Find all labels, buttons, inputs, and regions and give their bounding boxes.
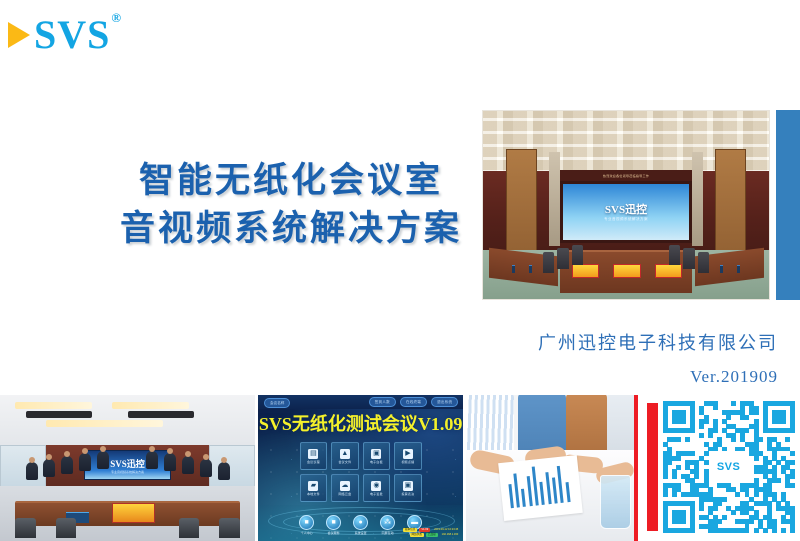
room-screen-title: SVS迅控	[110, 457, 145, 470]
hero-led-screen: SVS迅控 专业音视频系统解决方案	[560, 181, 692, 243]
share-icon: ⁂	[380, 515, 395, 530]
registered-trademark-icon: ®	[111, 10, 122, 25]
strip-panel-conference-room: SVS迅控 专业音视频系统解决方案	[0, 395, 255, 541]
photo-red-accent-edge	[634, 395, 638, 541]
room-window-left	[0, 445, 46, 492]
document-icon: ▲	[340, 449, 350, 459]
qr-red-bar	[647, 403, 658, 531]
software-tile-documents[interactable]: ▲ 会议文件	[331, 442, 359, 470]
room-attendee	[218, 462, 230, 480]
software-tile-label: 网络云盘	[338, 492, 351, 496]
software-tile-label: 会议议程	[307, 460, 320, 464]
video-icon: ▶	[403, 449, 413, 459]
room-attendee	[146, 451, 158, 469]
software-tile-local-files[interactable]: ▰ 本地文件	[300, 474, 328, 502]
dock-item-screenshare[interactable]: ⁂ 同屏互动	[380, 515, 395, 535]
dock-item-label: 会议服务	[328, 531, 340, 535]
status-row: 版本信息 V1.09 2019-09-12 10:23:45	[403, 528, 460, 532]
hero-screen-subtitle: 专业音视频系统解决方案	[604, 217, 648, 222]
strip-panel-qr-code: SVS	[641, 395, 800, 541]
strip-panel-software-ui: 签到人数 在线终端 退出系统 会议名称 SVS无纸化测试会议V1.09 ▤ 会议…	[258, 395, 463, 541]
status-chip-version-value: V1.09	[419, 528, 430, 532]
software-tile-agenda[interactable]: ▤ 会议议程	[300, 442, 328, 470]
room-chair	[219, 518, 239, 538]
room-attendee	[200, 459, 212, 477]
software-status-info: 版本信息 V1.09 2019-09-12 10:23:45 网络状态 已连接 …	[403, 528, 460, 537]
room-attendee	[97, 451, 109, 469]
hero-wall-panel-left	[549, 152, 560, 246]
software-meeting-name-label: 会议名称	[264, 398, 290, 408]
company-info: 广州迅控电子科技有限公司 Ver.201909	[538, 330, 778, 387]
bottom-image-strip: SVS迅控 专业音视频系统解决方案 签到人数 在线终端 退出系统 会议名称 SV…	[0, 395, 800, 541]
hero-monitor-3	[737, 265, 740, 273]
hero-chair-1	[543, 252, 554, 273]
room-chair	[15, 518, 35, 538]
hero-monitor-2	[529, 265, 532, 273]
title-line-2: 音视频系统解决方案	[96, 205, 486, 253]
hero-chair-2	[557, 248, 568, 269]
software-tile-video[interactable]: ▶ 视频点播	[394, 442, 422, 470]
room-attendee	[26, 462, 38, 480]
photo-water-glass	[600, 475, 631, 530]
qr-center-label: SVS	[712, 458, 746, 476]
software-pill-terminals[interactable]: 在线终端	[400, 397, 427, 407]
room-attendee	[43, 459, 55, 477]
room-window-right	[209, 445, 255, 492]
software-tile-esign[interactable]: ◉ 电子签批	[363, 474, 391, 502]
software-pill-signin[interactable]: 签到人数	[369, 397, 396, 407]
software-tile-label: 电子白板	[370, 460, 383, 464]
company-name: 广州迅控电子科技有限公司	[538, 330, 778, 357]
clipboard-icon: ▤	[308, 449, 318, 459]
room-chair	[56, 518, 76, 538]
hero-terminal-3	[655, 264, 683, 278]
hero-chair-3	[572, 245, 583, 266]
software-function-grid: ▤ 会议议程 ▲ 会议文件 ▣ 电子白板 ▶ 视频点播 ▰ 本地文件 ☁ 网络云…	[300, 442, 422, 502]
qr-code-image: SVS	[663, 401, 795, 533]
hero-screen-title: SVS迅控	[605, 201, 647, 217]
status-chip-network-label: 网络状态	[410, 533, 424, 537]
status-chip-version-label: 版本信息	[403, 528, 417, 532]
room-attendee	[164, 453, 176, 471]
logo-triangle-icon	[8, 22, 30, 48]
page-title: 智能无纸化会议室 音视频系统解决方案	[96, 157, 486, 254]
camera-icon: ◉	[371, 481, 381, 491]
hero-wall-panel-right	[692, 152, 703, 246]
right-accent-bar	[776, 110, 800, 300]
dock-item-profile[interactable]: ■ 个人中心	[299, 515, 314, 535]
version-label: Ver.201909	[538, 367, 778, 387]
status-row: 网络状态 已连接 192.168.1.100	[410, 533, 461, 537]
user-icon: ■	[299, 515, 314, 530]
photo-chart-document	[498, 455, 582, 521]
ballot-icon: ▣	[403, 481, 413, 491]
room-attendee	[61, 456, 73, 474]
software-tile-label: 本地文件	[307, 492, 320, 496]
room-chair	[179, 518, 199, 538]
status-timestamp: 2019-09-12 10:23:45	[432, 528, 460, 532]
room-lifting-terminal	[112, 503, 155, 524]
software-tile-label: 投票表决	[401, 492, 414, 496]
software-title: SVS无纸化测试会议V1.09	[258, 410, 463, 436]
dock-item-settings[interactable]: ● 系统设置	[353, 515, 368, 535]
hero-chair-6	[669, 245, 680, 266]
status-chip-network-value: 已连接	[426, 533, 438, 537]
room-ceiling	[0, 395, 255, 448]
hero-chair-5	[683, 248, 694, 269]
service-icon: ■	[326, 515, 341, 530]
software-dock: ■ 个人中心 ■ 会议服务 ● 系统设置 ⁂ 同屏互动 ▬ 返回桌面	[258, 505, 463, 541]
title-line-1: 智能无纸化会议室	[96, 157, 486, 205]
cloud-icon: ☁	[340, 481, 350, 491]
strip-panel-meeting-photo	[466, 395, 637, 541]
status-ip-address: 192.168.1.100	[440, 533, 461, 537]
software-tile-whiteboard[interactable]: ▣ 电子白板	[363, 442, 391, 470]
hero-monitor-4	[720, 265, 723, 273]
room-attendee	[182, 456, 194, 474]
logo-text-label: SVS	[34, 12, 110, 57]
hero-chair-4	[698, 252, 709, 273]
dock-item-label: 同屏互动	[382, 531, 394, 535]
room-screen-subtitle: 专业音视频系统解决方案	[111, 470, 144, 474]
folder-icon: ▰	[308, 481, 318, 491]
qr-container: SVS	[641, 395, 800, 541]
software-tile-label: 电子签批	[370, 492, 383, 496]
dock-item-service[interactable]: ■ 会议服务	[326, 515, 341, 535]
settings-icon: ●	[353, 515, 368, 530]
software-tile-label: 会议文件	[338, 460, 351, 464]
software-tile-vote[interactable]: ▣ 投票表决	[394, 474, 422, 502]
software-tile-label: 视频点播	[401, 460, 414, 464]
svs-logo: SVS®	[8, 10, 208, 60]
logo-wordmark: SVS®	[34, 15, 121, 55]
hero-terminal-2	[613, 264, 641, 278]
hero-monitor-1	[512, 265, 515, 273]
hero-terminal-1	[572, 264, 600, 278]
room-attendee	[79, 453, 91, 471]
software-pill-exit[interactable]: 退出系统	[431, 397, 458, 407]
dock-item-label: 系统设置	[355, 531, 367, 535]
hero-conference-room-image: 热烈欢迎各位领导莅临指导工作 SVS迅控 专业音视频系统解决方案	[482, 110, 770, 300]
whiteboard-icon: ▣	[371, 449, 381, 459]
dock-item-label: 个人中心	[301, 531, 313, 535]
software-tile-cloud[interactable]: ☁ 网络云盘	[331, 474, 359, 502]
